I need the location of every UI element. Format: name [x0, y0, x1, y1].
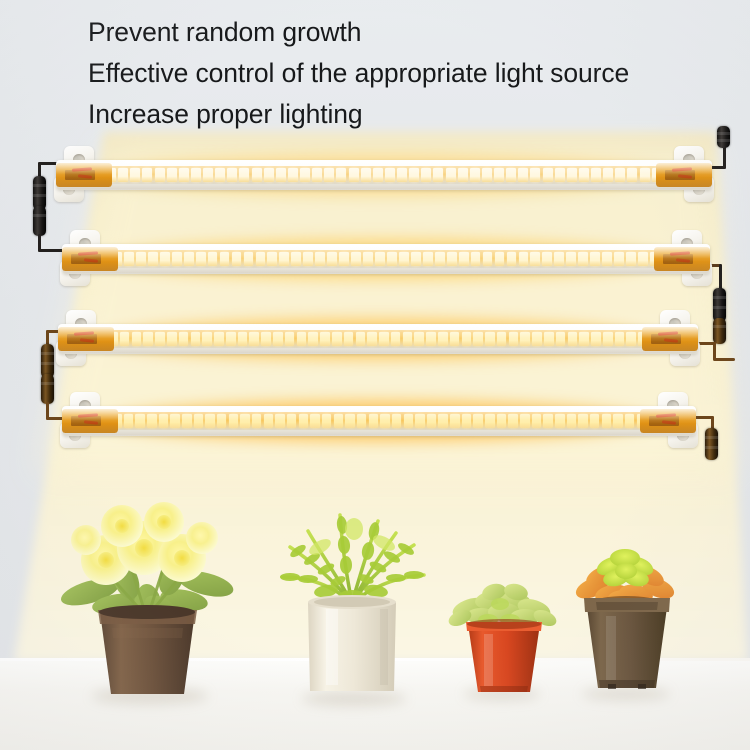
- bar-cover: [62, 407, 696, 435]
- bar-cover: [56, 161, 712, 189]
- bar-cover: [62, 245, 710, 273]
- plant-3-art: [448, 568, 558, 696]
- plant-4-art: [566, 536, 690, 696]
- bar-cover: [58, 325, 698, 353]
- plant-green-fern: [268, 485, 436, 700]
- headline-line-1: Prevent random growth: [88, 12, 738, 53]
- plant-succulent: [566, 536, 690, 696]
- connector-socket: [41, 374, 54, 404]
- plant-2-art: [268, 485, 436, 700]
- headline-line-3: Increase proper lighting: [88, 94, 738, 135]
- headline-block: Prevent random growth Effective control …: [88, 12, 738, 135]
- led-bar-1[interactable]: [56, 146, 712, 204]
- product-image-canvas: Prevent random growth Effective control …: [0, 0, 750, 750]
- headline-line-2: Effective control of the appropriate lig…: [88, 53, 738, 94]
- connector-socket: [33, 206, 46, 236]
- connector-plug: [41, 344, 54, 378]
- plant-yellow-flowers: [60, 488, 235, 698]
- plant-1-art: [60, 488, 235, 698]
- cable-bar4-right: [690, 408, 748, 468]
- connector-plug: [705, 428, 718, 460]
- led-bar-2[interactable]: [62, 230, 710, 288]
- led-bar-4[interactable]: [62, 392, 696, 450]
- led-bar-3[interactable]: [58, 310, 698, 368]
- connector-plug: [33, 176, 46, 210]
- connector-plug: [713, 288, 726, 322]
- plant-small-seedling: [448, 568, 558, 696]
